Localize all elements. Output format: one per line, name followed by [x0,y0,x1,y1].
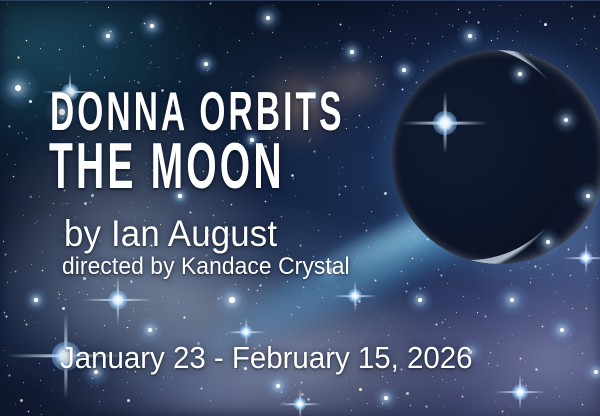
poster-text: DONNA ORBITS THE MOON by Ian August dire… [0,0,600,416]
director-credit: directed by Kandace Crystal [62,253,350,281]
top-edge-line [0,0,600,1]
poster-image: DONNA ORBITS THE MOON by Ian August dire… [0,0,600,416]
playwright-credit: by Ian August [64,213,277,255]
performance-dates: January 23 - February 15, 2026 [60,340,473,376]
title-line-2: THE MOON [49,130,285,204]
